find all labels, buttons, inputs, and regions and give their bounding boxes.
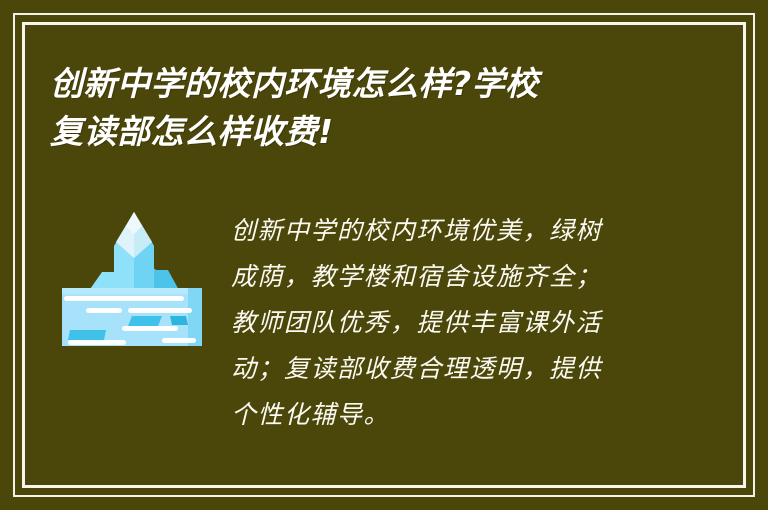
body-line-2: 成荫，教学楼和宿舍设施齐全； <box>231 254 656 300</box>
sea-water <box>62 288 202 346</box>
page-title: 创新中学的校内环境怎么样?学校 复读部怎么样收费! <box>50 60 670 156</box>
body-paragraph: 创新中学的校内环境优美，绿树 成荫，教学楼和宿舍设施齐全； 教师团队优秀，提供丰… <box>231 208 656 438</box>
iceberg-illustration <box>62 198 202 348</box>
poster-canvas: 创新中学的校内环境怎么样?学校 复读部怎么样收费! <box>0 0 768 510</box>
iceberg-shape <box>88 212 180 292</box>
body-line-3: 教师团队优秀，提供丰富课外活 <box>231 300 656 346</box>
title-line-2: 复读部怎么样收费! <box>50 108 670 156</box>
body-line-4: 动；复读部收费合理透明，提供 <box>231 346 656 392</box>
body-line-5: 个性化辅导。 <box>231 392 656 438</box>
body-line-1: 创新中学的校内环境优美，绿树 <box>231 208 656 254</box>
title-line-1: 创新中学的校内环境怎么样?学校 <box>50 60 670 108</box>
